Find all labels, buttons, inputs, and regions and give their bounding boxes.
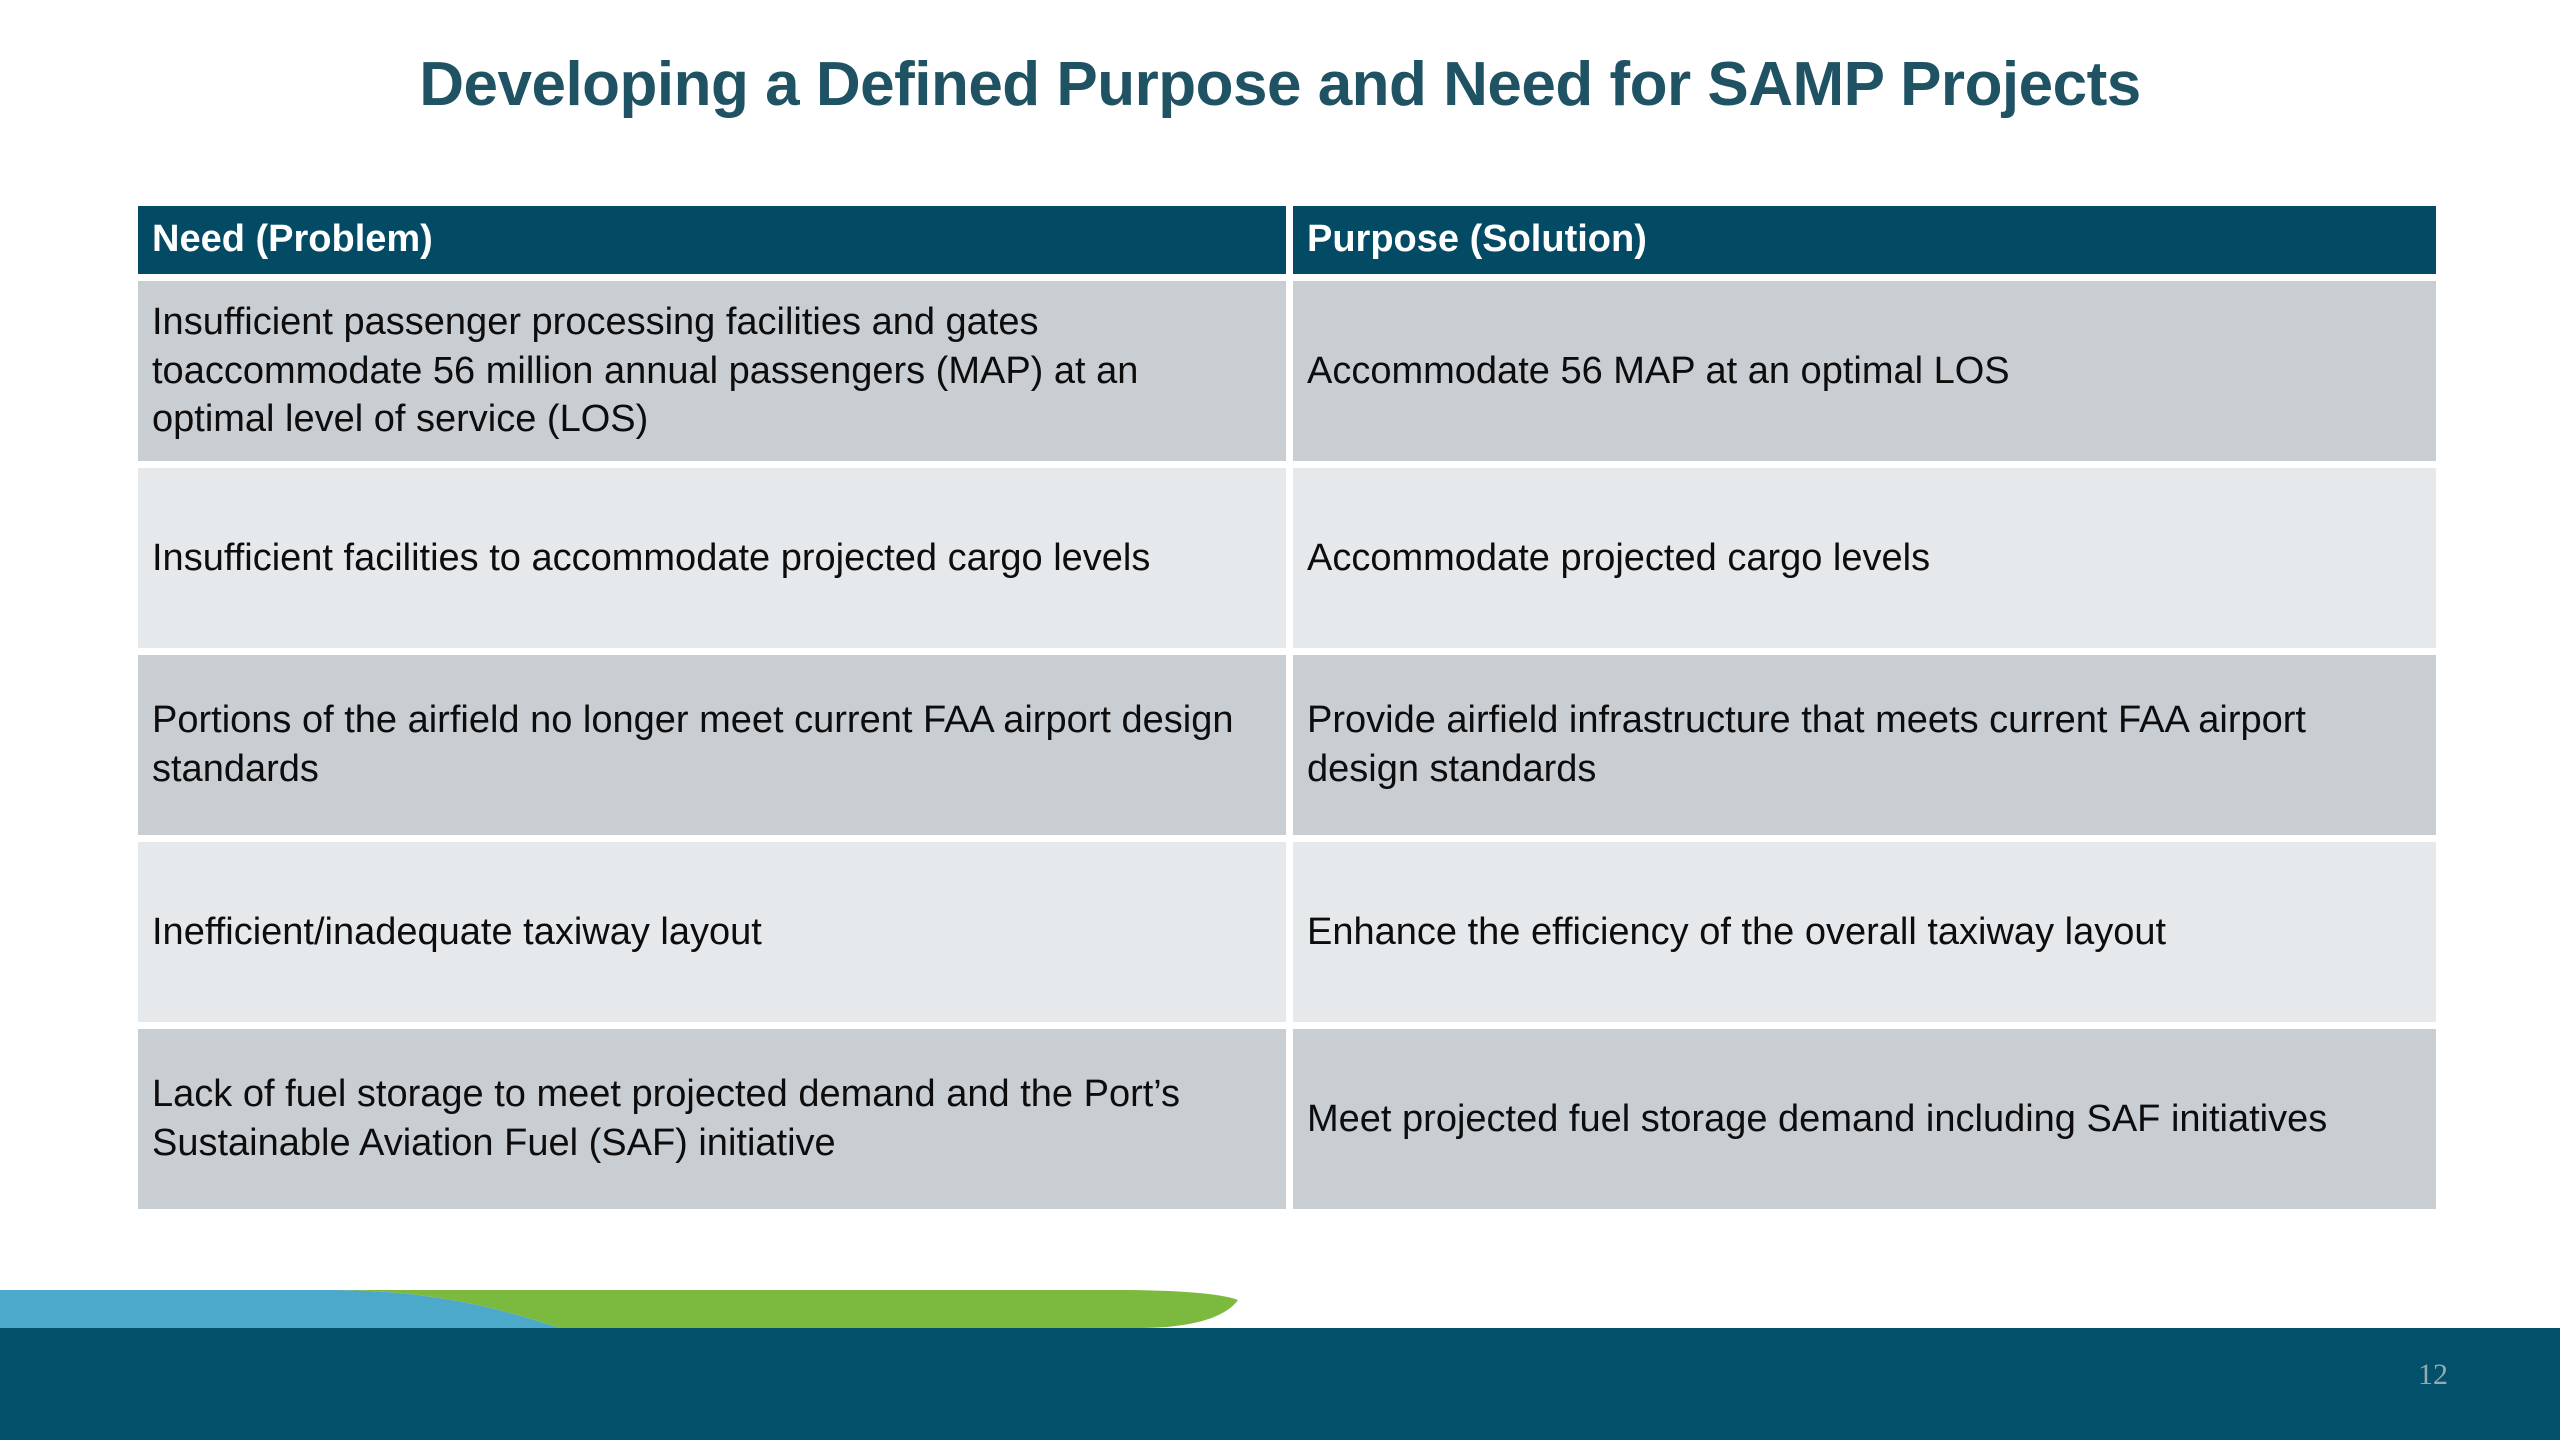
column-header-purpose: Purpose (Solution) xyxy=(1293,206,2436,274)
purpose-and-need-table: Need (Problem) Purpose (Solution) Insuff… xyxy=(131,199,2443,1216)
footer-decoration xyxy=(0,1260,2560,1440)
table-row: Lack of fuel storage to meet projected d… xyxy=(138,1029,2436,1209)
table-row: Portions of the airfield no longer meet … xyxy=(138,655,2436,835)
cell-purpose: Provide airfield infrastructure that mee… xyxy=(1293,655,2436,835)
cell-purpose: Meet projected fuel storage demand inclu… xyxy=(1293,1029,2436,1209)
table-row: Insufficient passenger processing facili… xyxy=(138,281,2436,461)
footer-bar xyxy=(0,1328,2560,1440)
column-header-need: Need (Problem) xyxy=(138,206,1286,274)
page-title: Developing a Defined Purpose and Need fo… xyxy=(0,52,2560,117)
table-header-row: Need (Problem) Purpose (Solution) xyxy=(138,206,2436,274)
footer-wave-graphic xyxy=(0,1260,2560,1440)
cell-purpose: Enhance the efficiency of the overall ta… xyxy=(1293,842,2436,1022)
cell-need: Inefficient/inadequate taxiway layout xyxy=(138,842,1286,1022)
cell-need: Lack of fuel storage to meet projected d… xyxy=(138,1029,1286,1209)
table-header: Need (Problem) Purpose (Solution) xyxy=(138,206,2436,274)
page-number: 12 xyxy=(2418,1358,2448,1392)
table-row: Insufficient facilities to accommodate p… xyxy=(138,468,2436,648)
cell-need: Portions of the airfield no longer meet … xyxy=(138,655,1286,835)
table-row: Inefficient/inadequate taxiway layout En… xyxy=(138,842,2436,1022)
cell-purpose: Accommodate projected cargo levels xyxy=(1293,468,2436,648)
cell-need: Insufficient passenger processing facili… xyxy=(138,281,1286,461)
cell-need: Insufficient facilities to accommodate p… xyxy=(138,468,1286,648)
table-body: Insufficient passenger processing facili… xyxy=(138,281,2436,1209)
cell-purpose: Accommodate 56 MAP at an optimal LOS xyxy=(1293,281,2436,461)
